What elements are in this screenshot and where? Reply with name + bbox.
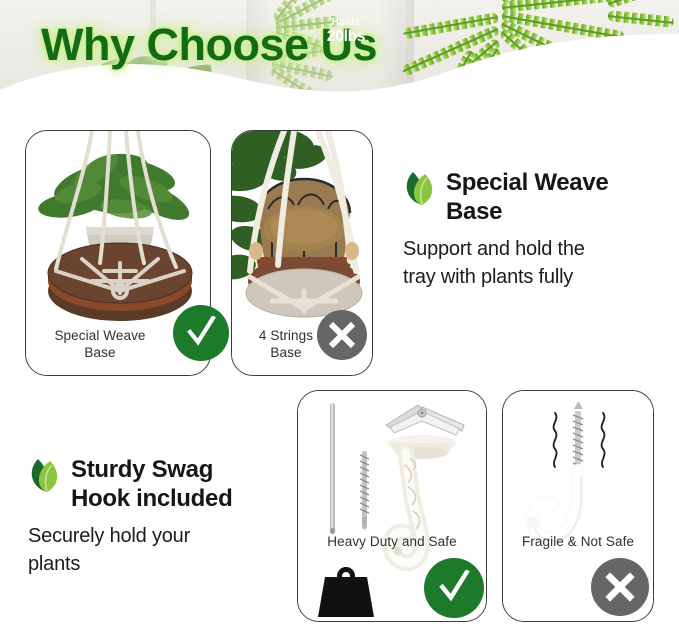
badge-check-heavy-duty xyxy=(424,558,484,618)
weight-capacity-badge xyxy=(310,565,382,617)
feature-special-weave-base: Special Weave Base Support and hold the … xyxy=(403,168,665,291)
card-label-heavy-duty-and-safe: Heavy Duty and Safe xyxy=(297,533,487,550)
feature-title-line1: Special Weave xyxy=(446,168,608,197)
feature-desc-line1: Securely hold your xyxy=(28,522,288,550)
leaf-icon xyxy=(403,170,437,206)
badge-cross-fragile xyxy=(591,558,649,616)
feature-desc-line2: plants xyxy=(28,550,288,578)
feature-description: Securely hold your plants xyxy=(28,522,288,578)
weight-badge-holds-label: Holds xyxy=(310,17,382,28)
feature-title-line2: Hook included xyxy=(71,484,232,513)
weight-badge-value: 20lbs xyxy=(310,28,382,46)
cross-icon xyxy=(325,318,359,352)
feature-description: Support and hold the tray with plants fu… xyxy=(403,235,665,291)
checkmark-icon xyxy=(436,570,472,606)
card-label-fragile-not-safe: Fragile & Not Safe xyxy=(502,533,654,550)
feature-heading: Sturdy Swag Hook included xyxy=(28,455,288,513)
leaf-icon xyxy=(28,457,62,493)
feature-title: Sturdy Swag Hook included xyxy=(71,455,232,513)
badge-cross-strings xyxy=(317,310,367,360)
card-label-line1: Special Weave xyxy=(25,327,175,344)
feature-title: Special Weave Base xyxy=(446,168,608,226)
feature-title-line2: Base xyxy=(446,197,608,226)
checkmark-icon xyxy=(184,316,218,350)
card-label-line2: Base xyxy=(25,344,175,361)
feature-sturdy-swag-hook: Sturdy Swag Hook included Securely hold … xyxy=(28,455,288,578)
feature-heading: Special Weave Base xyxy=(403,168,665,226)
card-label-special-weave-base: Special Weave Base xyxy=(25,327,175,361)
feature-desc-line1: Support and hold the xyxy=(403,235,665,263)
cross-icon xyxy=(601,568,639,606)
badge-check-weave xyxy=(173,305,229,361)
feature-title-line1: Sturdy Swag xyxy=(71,455,232,484)
feature-desc-line2: tray with plants fully xyxy=(403,263,665,291)
